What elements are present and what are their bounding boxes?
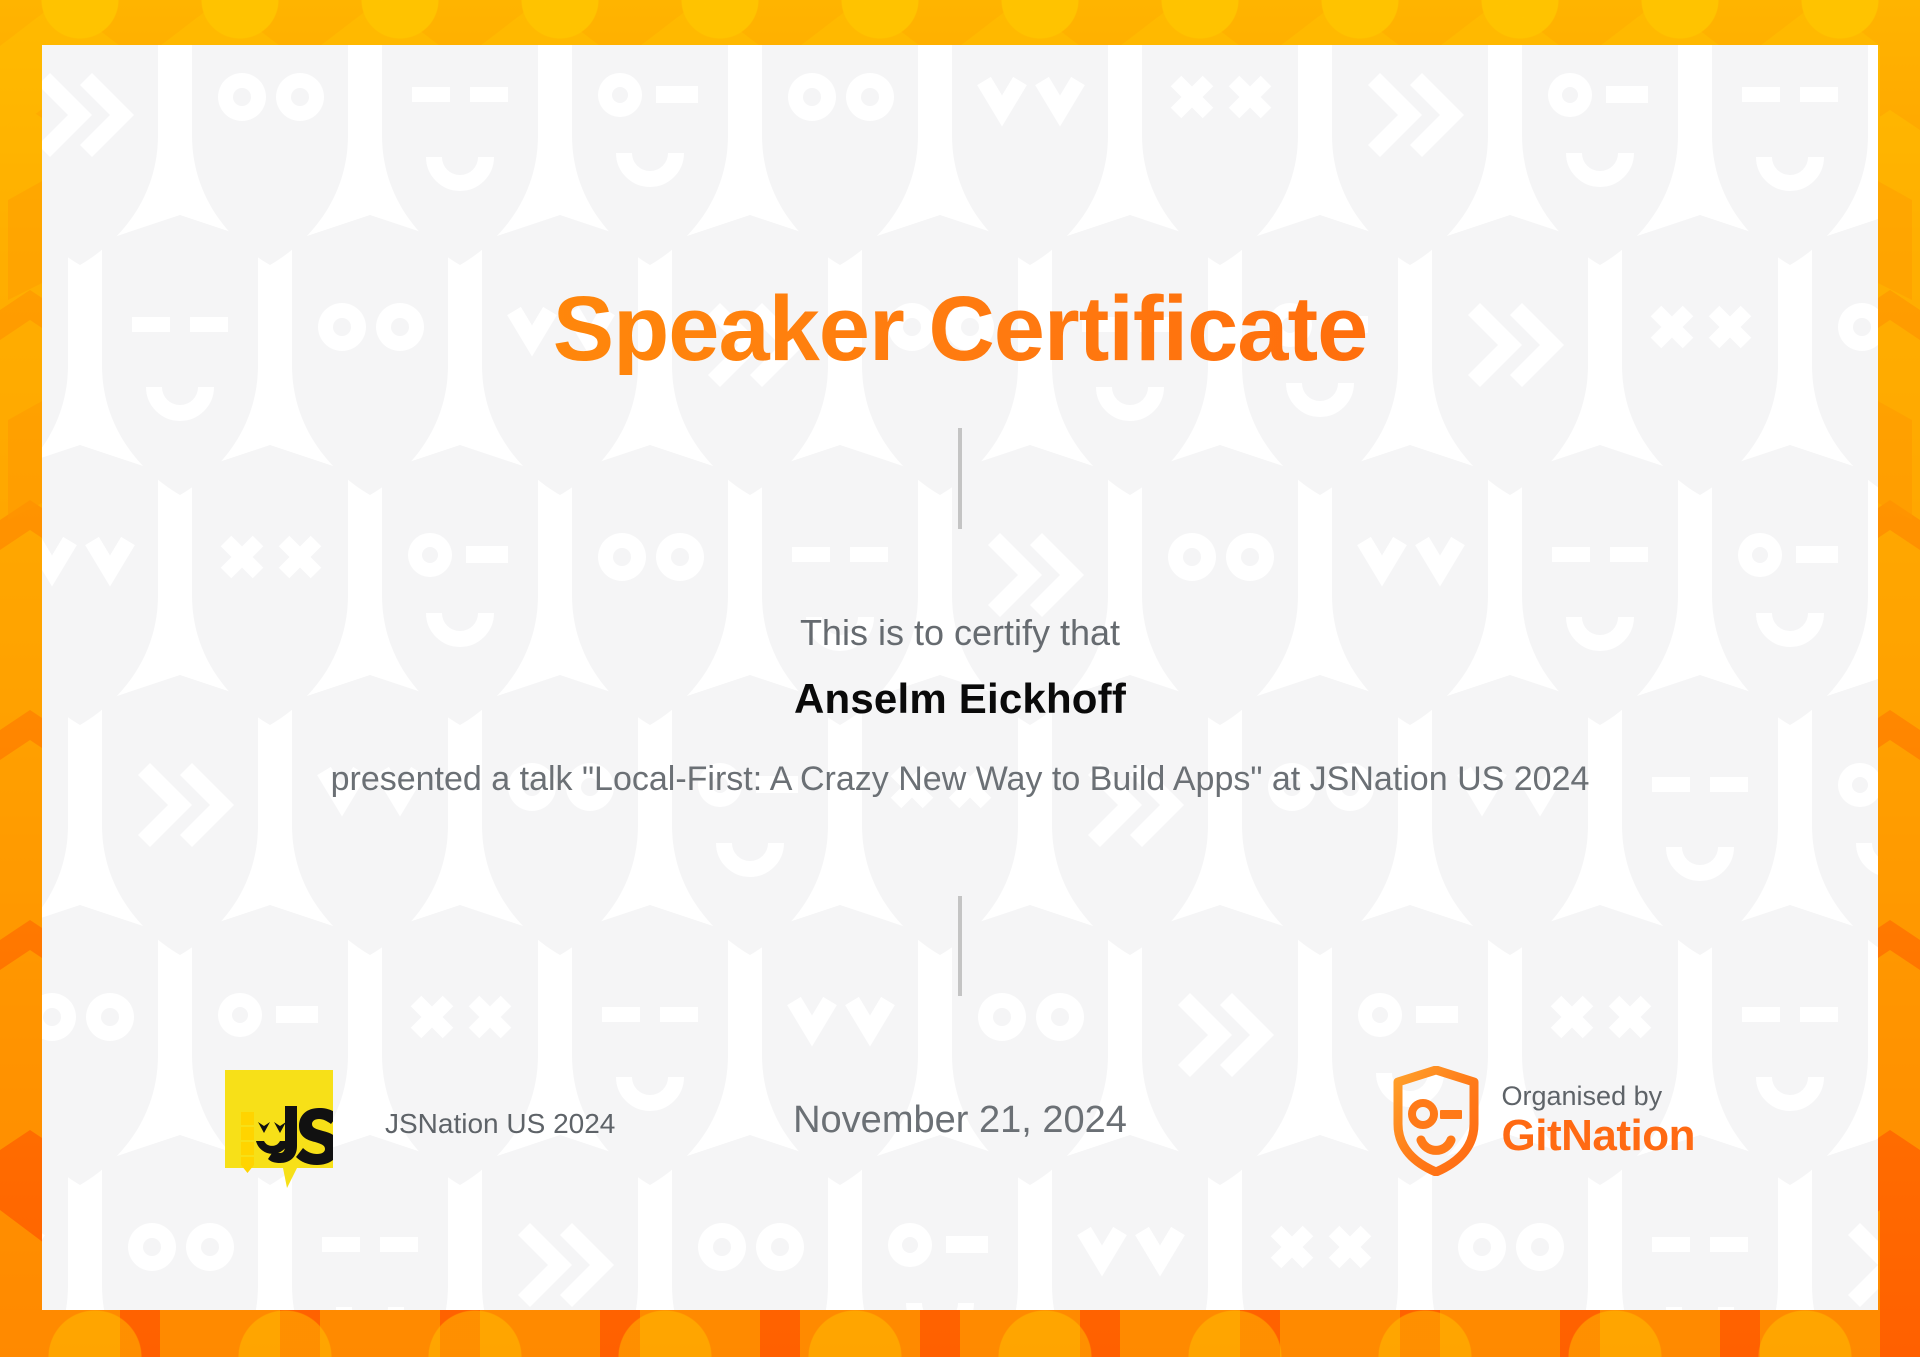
certificate-footer: JSNation US 2024 November 21, 2024 (42, 1050, 1878, 1240)
certificate-card: Speaker Certificate This is to certify t… (42, 45, 1878, 1310)
divider-bottom (958, 896, 962, 996)
divider-top (958, 428, 962, 529)
gitnation-shield-icon (1392, 1066, 1480, 1176)
speaker-certificate: Speaker Certificate This is to certify t… (0, 0, 1920, 1357)
organised-by-label: Organised by (1502, 1081, 1695, 1111)
page-title: Speaker Certificate (42, 283, 1878, 375)
organiser-block: Organised by GitNation (1392, 1066, 1695, 1176)
recipient-name: Anselm Eickhoff (42, 675, 1878, 723)
talk-description: presented a talk "Local-First: A Crazy N… (297, 755, 1623, 804)
organiser-text: Organised by GitNation (1502, 1081, 1695, 1161)
certify-line: This is to certify that (42, 612, 1878, 654)
organiser-name: GitNation (1502, 1111, 1695, 1160)
